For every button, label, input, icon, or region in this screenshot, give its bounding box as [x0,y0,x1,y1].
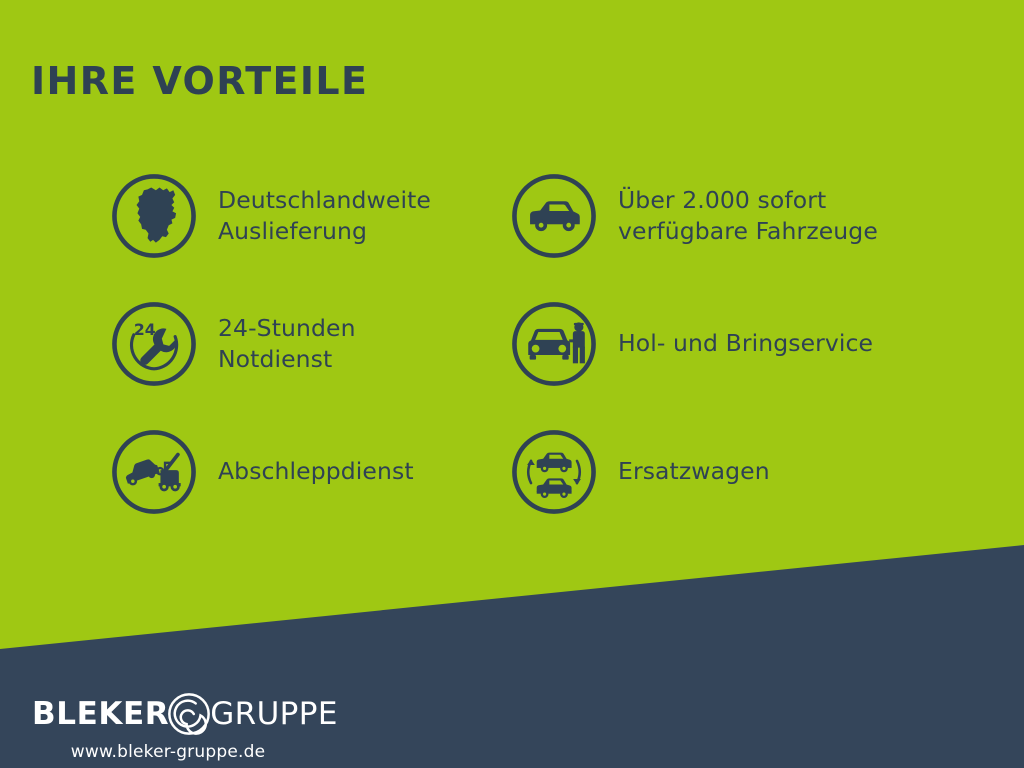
car-with-driver-icon [508,298,600,390]
logo-wordmark-bleker: BLEKER [32,699,169,730]
germany-map-icon [108,170,200,262]
tow-truck-icon [108,426,200,518]
logo-url[interactable]: www.bleker-gruppe.de [32,742,304,762]
benefit-label: Über 2.000 sofort verfügbare Fahrzeuge [618,185,878,247]
benefit-label: 24-Stunden Notdienst [218,313,356,375]
24-hour-wrench-icon: 24 [108,298,200,390]
benefit-item-verfuegbare-fahrzeuge: Über 2.000 sofort verfügbare Fahrzeuge [508,152,928,280]
slide-canvas: IHRE VORTEILE Deutschlandweite Ausliefer… [0,0,1024,768]
logo-wordmark-gruppe: GRUPPE [210,699,338,730]
footer-logo[interactable]: BLEKER GRUPPE www.bleker-gruppe.de [32,693,362,763]
benefit-item-hol-und-bringservice: Hol- und Bringservice [508,280,928,408]
benefit-label: Hol- und Bringservice [618,328,873,359]
benefit-item-ersatzwagen: Ersatzwagen [508,408,928,536]
benefit-label: Ersatzwagen [618,456,770,487]
page-title: IHRE VORTEILE [31,62,368,100]
car-exchange-icon [508,426,600,518]
logo-row: BLEKER GRUPPE [32,693,362,735]
benefit-item-deutschlandweite-auslieferung: Deutschlandweite Auslieferung [108,152,508,280]
benefit-label: Deutschlandweite Auslieferung [218,185,431,247]
benefit-item-abschleppdienst: Abschleppdienst [108,408,508,536]
spiral-icon [166,691,212,737]
benefit-label: Abschleppdienst [218,456,414,487]
24-hour-icon-text: 24 [134,320,156,339]
benefit-item-24-stunden-notdienst: 24 24-Stunden Notdienst [108,280,508,408]
benefits-grid: Deutschlandweite Auslieferung Über 2.000… [108,152,958,536]
car-side-icon [508,170,600,262]
